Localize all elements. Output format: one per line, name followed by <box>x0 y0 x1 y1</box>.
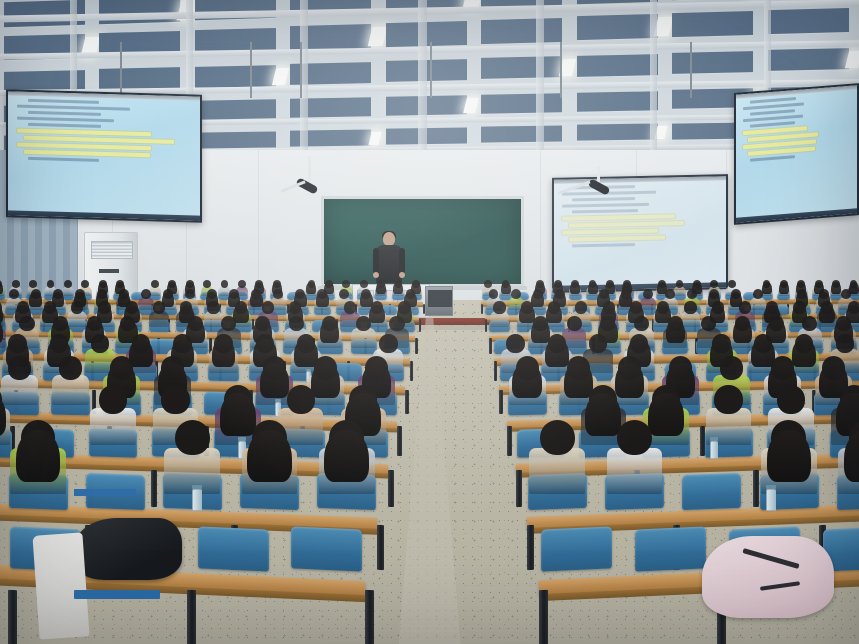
water-bottle <box>710 441 718 459</box>
student-head <box>684 301 696 313</box>
desk-leg <box>516 470 522 507</box>
ceiling-light-panel <box>463 98 479 113</box>
student-head <box>99 385 127 414</box>
air-conditioner-grill <box>91 241 133 259</box>
slide-line-highlighted <box>24 150 150 158</box>
student-head <box>91 334 109 353</box>
chalk-smudge <box>325 220 336 224</box>
ceiling-panel <box>481 126 562 143</box>
student-head <box>29 280 37 288</box>
desk-leg <box>507 426 512 456</box>
student-head <box>9 289 19 299</box>
student-head <box>81 280 89 288</box>
student-long-hair <box>844 430 859 482</box>
student-long-hair <box>0 393 6 435</box>
student-torso <box>607 448 663 493</box>
student-head <box>59 356 82 379</box>
chair-back <box>198 527 269 572</box>
student-head <box>540 420 575 455</box>
lecturer-arm-right <box>399 248 405 274</box>
student-head <box>19 316 34 331</box>
projector-pole-left <box>308 156 311 184</box>
student-head <box>64 280 72 288</box>
lecturer-hand-left <box>373 272 379 278</box>
student-head <box>287 385 315 414</box>
student <box>90 385 135 450</box>
ceiling-panel <box>577 91 658 111</box>
student-head <box>344 301 356 313</box>
podium-monitor-screen <box>428 290 452 307</box>
desk-leg <box>481 304 483 314</box>
student-head <box>777 385 805 414</box>
ceiling-panel <box>577 54 658 77</box>
student-long-hair <box>247 430 291 482</box>
air-conditioner-badge <box>99 269 119 273</box>
student-head <box>643 289 653 299</box>
student-head <box>739 301 751 313</box>
student-head <box>687 289 697 299</box>
student <box>319 420 375 500</box>
student-head <box>506 334 524 353</box>
student-head <box>836 334 854 353</box>
ceiling-panel <box>577 14 658 40</box>
desk-leg <box>388 470 394 507</box>
chair-back <box>291 527 362 572</box>
slide-line <box>750 155 795 162</box>
slide-line <box>562 191 656 196</box>
slide-content-center <box>554 176 726 291</box>
slide-line <box>572 209 638 213</box>
student <box>663 316 687 351</box>
student <box>0 280 5 298</box>
student-head <box>575 301 587 313</box>
white-tote-bag <box>32 532 89 639</box>
student-head <box>665 289 675 299</box>
student <box>10 420 66 500</box>
student-head <box>379 334 397 353</box>
ceiling-pipe <box>560 42 562 98</box>
desk-leg <box>365 590 374 644</box>
water-bottle <box>766 489 776 512</box>
student-long-hair <box>316 292 329 307</box>
chalk-smudge <box>429 255 445 258</box>
slide-line <box>17 105 130 111</box>
ceiling-pipe <box>690 42 692 98</box>
student-long-hair <box>16 430 60 482</box>
desk-leg <box>494 361 497 381</box>
green-chalkboard <box>321 196 524 287</box>
chalk-smudge <box>453 231 470 237</box>
slide-line-highlighted <box>562 214 675 220</box>
student-head <box>710 280 718 288</box>
desk-leg <box>377 524 384 569</box>
ceiling-panel <box>481 18 562 44</box>
student <box>375 280 388 298</box>
student-head <box>493 301 505 313</box>
slide-line <box>28 157 99 162</box>
student-long-hair <box>767 430 811 482</box>
ceiling-panel <box>768 8 849 34</box>
chair-back <box>682 473 741 510</box>
ceiling-light-panel <box>368 132 382 145</box>
student-head <box>802 316 817 331</box>
chalk-smudge <box>349 222 355 224</box>
ceiling-pipe <box>430 42 432 98</box>
student <box>838 420 859 500</box>
lecture-hall-photo <box>0 0 859 644</box>
student-head <box>153 301 165 313</box>
ceiling-panel <box>481 93 562 113</box>
projection-screen-left[interactable] <box>6 89 202 222</box>
slide-line <box>562 203 649 208</box>
student-head <box>589 334 607 353</box>
podium-monitor[interactable] <box>425 286 453 316</box>
slide-line <box>17 117 114 123</box>
student-head <box>161 385 189 414</box>
student-head <box>676 280 684 288</box>
desk-leg <box>527 524 534 569</box>
student <box>351 316 375 351</box>
student-long-hair <box>779 282 789 294</box>
desk-leg <box>753 470 759 507</box>
student <box>607 420 663 500</box>
ceiling-pipe <box>120 42 122 98</box>
student-head <box>342 280 350 288</box>
desk-leg <box>539 590 548 644</box>
desk-leg <box>8 590 17 644</box>
desk-leg <box>187 590 196 644</box>
ceiling-panel <box>481 56 562 79</box>
ceiling-panel <box>99 67 180 90</box>
student-head <box>360 280 368 288</box>
student <box>314 289 330 312</box>
student-long-hair <box>376 282 386 294</box>
desk-leg <box>489 338 492 354</box>
ceiling-panel <box>672 11 753 37</box>
lecturer-hand-right <box>399 272 405 278</box>
student-head <box>567 316 582 331</box>
student-head <box>221 280 229 288</box>
student-head <box>389 316 404 331</box>
projector-pole-center <box>597 166 600 182</box>
student <box>0 385 10 450</box>
desk-leg <box>485 319 487 332</box>
student-head <box>714 385 742 414</box>
student <box>569 280 582 298</box>
student-head <box>203 280 211 288</box>
pink-bag <box>702 536 834 618</box>
water-bottle-cap <box>766 485 776 490</box>
chalk-smudge <box>426 230 430 236</box>
water-bottle-cap <box>192 485 202 490</box>
student-torso <box>529 448 585 493</box>
slide-line-highlighted <box>562 229 658 235</box>
black-backpack <box>74 518 182 580</box>
lecturer-head <box>383 232 395 246</box>
chair-back <box>635 527 706 572</box>
chalk-smudge <box>418 223 429 229</box>
student <box>318 316 342 351</box>
student-head <box>8 356 31 379</box>
slide-line <box>28 123 102 128</box>
student <box>149 301 169 329</box>
chair-back <box>541 527 612 572</box>
water-bottle-cap <box>710 437 718 441</box>
student-head <box>47 280 55 288</box>
slide-line <box>572 197 635 201</box>
slide-line <box>28 99 99 104</box>
student <box>209 334 239 377</box>
desk-leg <box>405 390 409 414</box>
student-head <box>728 280 736 288</box>
ceiling-pipe <box>250 42 252 98</box>
student-torso <box>351 328 375 348</box>
slide-line <box>743 102 804 110</box>
student-head <box>617 420 652 455</box>
desk-leg <box>151 470 157 507</box>
student-head <box>207 301 219 313</box>
chalk-smudge <box>353 245 356 250</box>
student-head <box>12 280 20 288</box>
ceiling-panel <box>195 65 276 88</box>
student-long-hair <box>512 363 541 397</box>
lecturer-arm-left <box>373 248 379 274</box>
slide-line-highlighted <box>569 221 684 227</box>
ceiling-panel <box>768 48 849 71</box>
student <box>52 356 89 409</box>
ceiling-panel <box>577 124 658 141</box>
desk-leg <box>423 304 425 314</box>
student-head <box>71 301 83 313</box>
slide-line <box>28 111 102 116</box>
projection-screen-center[interactable] <box>552 174 728 293</box>
slide-line <box>572 243 635 247</box>
student-long-hair <box>666 320 685 343</box>
ceiling-light-panel <box>272 67 289 84</box>
ceiling-pipe <box>300 42 302 98</box>
desk-leg <box>499 390 503 414</box>
student <box>778 280 791 298</box>
chalk-smudge <box>472 239 489 244</box>
student <box>242 420 298 500</box>
student-head <box>262 301 274 313</box>
student-long-hair <box>570 282 580 294</box>
student-head <box>484 280 492 288</box>
chalk-smudge <box>360 224 378 229</box>
student-head <box>720 356 743 379</box>
student-long-hair <box>0 282 3 294</box>
student-head <box>151 280 159 288</box>
student-head <box>356 316 371 331</box>
desk-leg <box>415 338 418 354</box>
slide-content-left <box>8 91 200 220</box>
student-long-hair <box>212 339 236 367</box>
student <box>509 356 546 409</box>
student-head <box>753 289 763 299</box>
student-head <box>141 289 151 299</box>
chalk-smudge <box>328 234 342 239</box>
desk-notebook-left <box>74 489 136 496</box>
desk-leg <box>397 426 402 456</box>
student <box>529 420 585 500</box>
chalk-smudge <box>440 208 451 215</box>
student <box>490 301 510 329</box>
student-head <box>701 316 716 331</box>
slide-content-right <box>736 85 857 223</box>
ceiling-panel <box>195 131 276 148</box>
student-head <box>634 316 649 331</box>
student-head <box>238 280 246 288</box>
student-head <box>511 289 521 299</box>
projection-screen-right[interactable] <box>734 83 859 225</box>
water-bottle <box>192 489 202 512</box>
student-head <box>221 316 236 331</box>
student-long-hair <box>320 320 339 343</box>
student-long-hair <box>324 430 368 482</box>
ceiling-panel <box>195 100 276 120</box>
ceiling-panel <box>672 51 753 74</box>
student-head <box>289 316 304 331</box>
student-head <box>175 420 210 455</box>
notebook <box>74 590 160 599</box>
slide-line-highlighted <box>569 235 665 241</box>
